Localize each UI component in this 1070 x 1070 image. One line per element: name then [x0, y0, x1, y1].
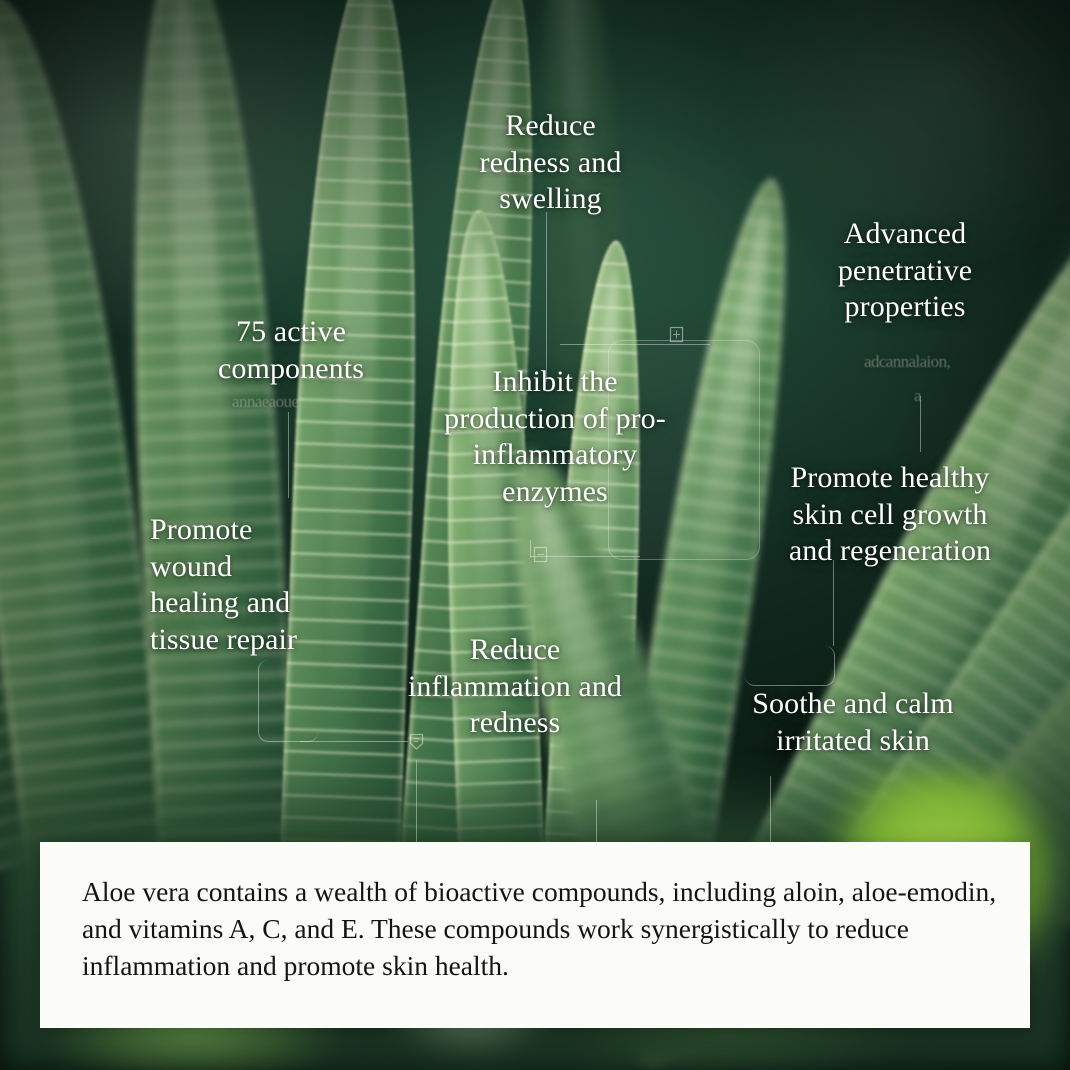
square-node-icon	[668, 326, 685, 345]
connector-skin-cell-growth	[833, 560, 834, 646]
connector-center-top	[560, 344, 710, 345]
square-node-icon	[532, 546, 549, 565]
label-soothe-irritated-skin: Soothe and calm irritated skin	[728, 686, 978, 759]
marker-center-low	[532, 546, 549, 565]
artifact-text-right-2: a	[914, 386, 921, 406]
connector-reduce-redness	[546, 212, 547, 382]
marker-center-top	[668, 326, 685, 345]
label-advanced-penetrative: Advanced penetrative properties	[805, 216, 1005, 326]
label-promote-wound-healing: Promote wound healing and tissue repair	[150, 512, 350, 658]
label-reduce-inflammation-redness: Reduce inflammation and redness	[380, 632, 650, 742]
connector-center-low-stem	[530, 540, 531, 558]
connector-corner-left	[258, 660, 318, 742]
label-reduce-redness-swelling: Reduce redness and swelling	[438, 108, 663, 218]
label-inhibit-pro-inflammatory: Inhibit the production of pro- inflammat…	[420, 364, 690, 510]
infographic-canvas: Reduce redness and swelling Advanced pen…	[0, 0, 1070, 1070]
connector-soothe-stem	[770, 776, 771, 852]
label-promote-skin-cell-growth: Promote healthy skin cell growth and reg…	[754, 460, 1026, 570]
caption-text: Aloe vera contains a wealth of bioactive…	[82, 874, 1000, 985]
connector-corner-right	[745, 646, 835, 686]
artifact-text-left: annaeaoue	[232, 392, 298, 412]
caption-card: Aloe vera contains a wealth of bioactive…	[40, 842, 1030, 1028]
artifact-text-right: adcannalaion,	[864, 352, 950, 372]
connector-active-components	[288, 412, 289, 498]
label-active-components: 75 active components	[198, 314, 384, 387]
